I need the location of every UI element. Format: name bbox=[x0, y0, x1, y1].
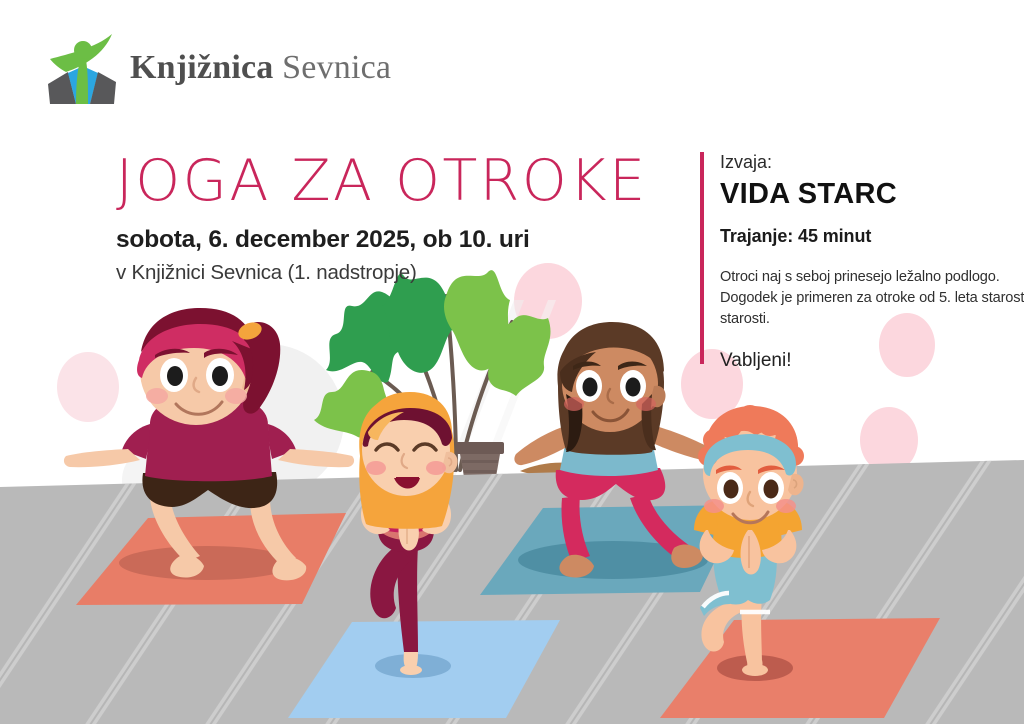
logo-word-bold: Knjižnica bbox=[130, 49, 273, 86]
bubble-pink-1 bbox=[57, 352, 119, 422]
page-title: JOGA ZA OTROKE bbox=[116, 152, 648, 210]
headline-block: JOGA ZA OTROKE sobota, 6. december 2025,… bbox=[116, 152, 648, 285]
poster-root: Knjižnica Sevnica JOGA ZA OTROKE sobota,… bbox=[0, 0, 1024, 724]
library-person-book-logo-icon bbox=[46, 32, 120, 108]
duration-text: Trajanje: 45 minut bbox=[720, 226, 1024, 247]
presenter-name: VIDA STARC bbox=[720, 179, 1024, 211]
note-line-2: Dogodek je primeren za otroke od 5. leta… bbox=[720, 288, 1024, 309]
vertical-divider bbox=[700, 152, 704, 364]
welcome-text: Vabljeni! bbox=[720, 350, 1024, 372]
note-line-1: Otroci naj s seboj prinesejo ležalno pod… bbox=[720, 267, 1024, 288]
event-datetime: sobota, 6. december 2025, ob 10. uri bbox=[116, 226, 648, 254]
note-line-3: starosti. bbox=[720, 309, 1024, 330]
note-text: Otroci naj s seboj prinesejo ležalno pod… bbox=[720, 267, 1024, 329]
presenter-label: Izvaja: bbox=[720, 152, 1024, 174]
details-block: Izvaja: VIDA STARC Trajanje: 45 minut Ot… bbox=[700, 152, 1024, 372]
library-logo: Knjižnica Sevnica bbox=[46, 32, 391, 108]
library-wordmark: Knjižnica Sevnica bbox=[130, 51, 391, 89]
logo-word-regular: Sevnica bbox=[282, 49, 391, 86]
event-venue: v Knjižnici Sevnica (1. nadstropje) bbox=[116, 261, 648, 285]
